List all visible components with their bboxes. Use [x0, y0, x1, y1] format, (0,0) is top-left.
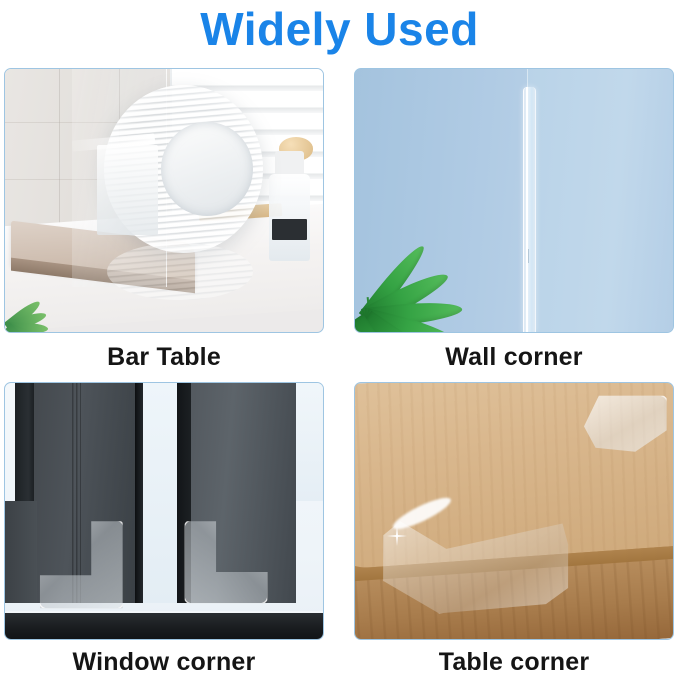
photo-table-corner: [354, 382, 674, 640]
panel-table-corner: Table corner: [354, 382, 674, 676]
window-glass: [143, 383, 178, 603]
plant: [354, 216, 476, 333]
tape-strip: [97, 145, 157, 234]
bottle: [269, 174, 310, 261]
guard-highlight: [526, 87, 528, 332]
corner-guard-strip: [523, 87, 536, 332]
guard-seam: [528, 249, 529, 264]
window-pane: [296, 383, 323, 501]
caption-bar-table: Bar Table: [4, 342, 324, 372]
panel-bar-table: Bar Table: [4, 68, 324, 380]
product-feature-image: Widely Used: [0, 0, 679, 676]
caption-table-corner: Table corner: [354, 647, 674, 676]
photo-bar-table: [4, 68, 324, 333]
sash-gap: [135, 383, 143, 603]
wall-surface-right: [527, 69, 673, 332]
caption-wall-corner: Wall corner: [354, 342, 674, 372]
sparkle-icon: [387, 526, 407, 546]
page-title: Widely Used: [0, 2, 679, 56]
panel-wall-corner: Wall corner: [354, 68, 674, 380]
bottle-label: [272, 219, 307, 240]
caption-window-corner: Window corner: [4, 647, 324, 676]
tape-roll-hole: [161, 122, 253, 217]
photo-wall-corner: [354, 68, 674, 333]
sash-grooves: [72, 383, 82, 603]
panel-window-corner: Window corner: [4, 382, 324, 676]
photo-window-corner: [4, 382, 324, 640]
plant: [4, 269, 69, 333]
window-sill: [5, 611, 323, 639]
tape-reflection: [107, 243, 253, 301]
wall-step: [5, 501, 37, 603]
